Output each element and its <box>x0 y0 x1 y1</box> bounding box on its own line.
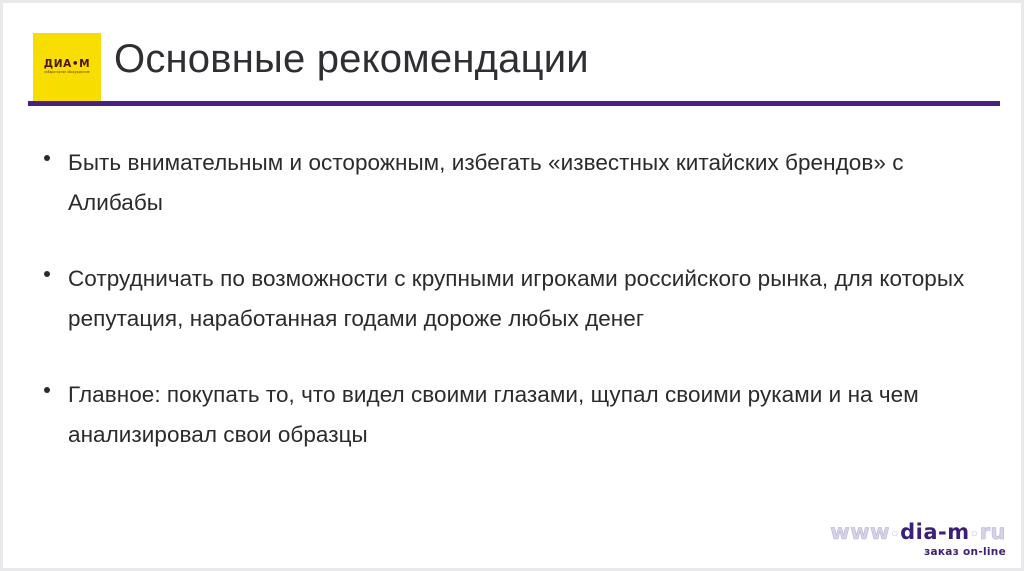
watermark-dot-1: ◦ <box>890 525 900 543</box>
diam-logo: ДИА•М лабораторное оборудование <box>33 33 101 101</box>
list-item: Сотрудничать по возможности с крупными и… <box>36 259 976 339</box>
bullet-text: Сотрудничать по возможности с крупными и… <box>68 259 973 339</box>
watermark-domain: dia-m <box>900 520 970 544</box>
list-item: Главное: покупать то, что видел своими г… <box>36 375 976 455</box>
slide-canvas: ДИА•М лабораторное оборудование Основные… <box>0 0 1024 571</box>
bullet-list: Быть внимательным и осторожным, избегать… <box>36 143 976 455</box>
logo-wordmark: ДИА•М <box>44 59 90 70</box>
bullet-dot-icon <box>44 155 50 161</box>
bullet-text: Главное: покупать то, что видел своими г… <box>68 375 973 455</box>
watermark-www: www <box>830 520 890 544</box>
page-title: Основные рекомендации <box>114 36 589 82</box>
logo-subtitle: лабораторное оборудование <box>44 72 90 75</box>
bullet-dot-icon <box>44 387 50 393</box>
watermark-tagline: заказ on-line <box>830 547 1006 558</box>
watermark: www◦dia-m◦ru заказ on-line <box>830 522 1006 558</box>
bullet-text: Быть внимательным и осторожным, избегать… <box>68 143 973 223</box>
watermark-url: www◦dia-m◦ru <box>830 522 1006 543</box>
watermark-dot-2: ◦ <box>970 525 980 543</box>
slide-edge-left <box>0 0 3 571</box>
slide-edge-top <box>0 0 1024 3</box>
bullet-dot-icon <box>44 271 50 277</box>
title-divider <box>28 101 1000 106</box>
watermark-tld: ru <box>980 520 1006 544</box>
list-item: Быть внимательным и осторожным, избегать… <box>36 143 976 223</box>
